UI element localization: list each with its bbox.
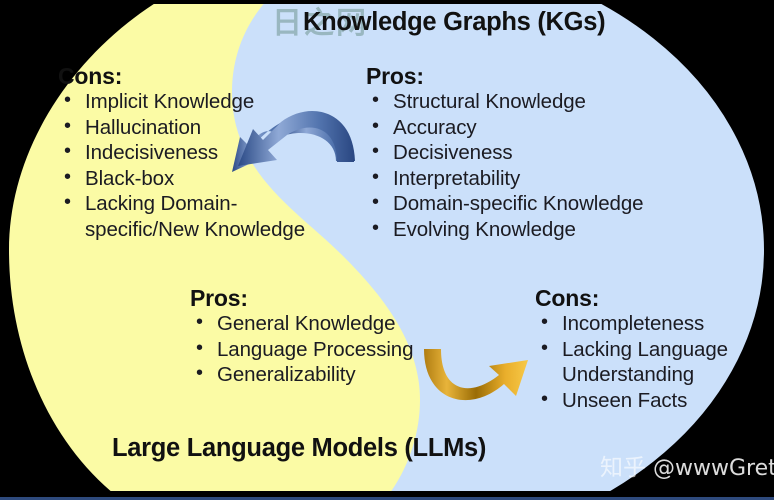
list-item: •Incompleteness (535, 311, 765, 337)
list-item-label: Lacking Domain-specific/New Knowledge (85, 192, 305, 241)
list-item-label: Evolving Knowledge (393, 218, 576, 241)
bullet-icon: • (64, 114, 71, 140)
list-item-label: Hallucination (85, 116, 201, 139)
llm-pros-block: Pros: •General Knowledge •Language Proce… (190, 285, 470, 388)
kg-pros-list: •Structural Knowledge •Accuracy •Decisiv… (366, 89, 696, 242)
list-item-label: Black-box (85, 167, 174, 190)
list-item: •Generalizability (190, 362, 470, 388)
list-item: •Domain-specific Knowledge (366, 191, 696, 217)
list-item-label: General Knowledge (217, 312, 395, 335)
list-item-label: Structural Knowledge (393, 90, 586, 113)
list-item-label: Indecisiveness (85, 141, 218, 164)
list-item-label: Language Processing (217, 338, 413, 361)
llm-pros-heading: Pros: (190, 285, 470, 311)
list-item: •Accuracy (366, 115, 696, 141)
zhihu-logo-text: 知乎 (600, 455, 646, 481)
bullet-icon: • (372, 216, 379, 242)
llm-title: Large Language Models (LLMs) (112, 434, 486, 462)
kg-pros-block: Pros: •Structural Knowledge •Accuracy •D… (366, 63, 696, 242)
bullet-icon: • (64, 190, 71, 216)
bullet-icon: • (372, 88, 379, 114)
bullet-icon: • (64, 139, 71, 165)
list-item-label: Decisiveness (393, 141, 513, 164)
list-item-label: Incompleteness (562, 312, 704, 335)
bullet-icon: • (541, 387, 548, 413)
list-item: •Evolving Knowledge (366, 217, 696, 243)
list-item: •Interpretability (366, 166, 696, 192)
bullet-icon: • (372, 165, 379, 191)
zhihu-handle: @wwwGreta (653, 456, 774, 481)
diagram-canvas: 日之网 Knowledge Graphs (KGs) Cons: •Implic… (0, 0, 774, 500)
llm-cons-list: •Incompleteness •Lacking Language Unders… (535, 311, 765, 413)
list-item-label: Unseen Facts (562, 389, 687, 412)
bullet-icon: • (372, 190, 379, 216)
zhihu-watermark: 知乎 @wwwGreta (600, 448, 774, 482)
bullet-icon: • (372, 114, 379, 140)
list-item: •Lacking Language Understanding (535, 337, 765, 388)
list-item: •Structural Knowledge (366, 89, 696, 115)
list-item: •Lacking Domain-specific/New Knowledge (58, 191, 348, 242)
bullet-icon: • (196, 361, 203, 387)
llm-cons-heading: Cons: (535, 285, 765, 311)
kg-cons-heading: Cons: (58, 63, 348, 89)
kg-pros-heading: Pros: (366, 63, 696, 89)
list-item: •Unseen Facts (535, 388, 765, 414)
bullet-icon: • (196, 336, 203, 362)
bullet-icon: • (64, 88, 71, 114)
llm-pros-list: •General Knowledge •Language Processing … (190, 311, 470, 388)
llm-cons-block: Cons: •Incompleteness •Lacking Language … (535, 285, 765, 413)
list-item: •Decisiveness (366, 140, 696, 166)
list-item-label: Implicit Knowledge (85, 90, 254, 113)
list-item-label: Lacking Language Understanding (562, 338, 728, 387)
bullet-icon: • (541, 310, 548, 336)
list-item-label: Generalizability (217, 363, 356, 386)
bullet-icon: • (196, 310, 203, 336)
list-item: •Black-box (58, 166, 348, 192)
kg-cons-list: •Implicit Knowledge •Hallucination •Inde… (58, 89, 348, 242)
list-item: •Indecisiveness (58, 140, 348, 166)
kg-title: Knowledge Graphs (KGs) (303, 8, 605, 36)
list-item-label: Domain-specific Knowledge (393, 192, 643, 215)
kg-cons-block: Cons: •Implicit Knowledge •Hallucination… (58, 63, 348, 242)
list-item: •General Knowledge (190, 311, 470, 337)
list-item: •Hallucination (58, 115, 348, 141)
bullet-icon: • (541, 336, 548, 362)
list-item-label: Interpretability (393, 167, 520, 190)
list-item: •Implicit Knowledge (58, 89, 348, 115)
bullet-icon: • (372, 139, 379, 165)
bullet-icon: • (64, 165, 71, 191)
list-item-label: Accuracy (393, 116, 477, 139)
list-item: •Language Processing (190, 337, 470, 363)
